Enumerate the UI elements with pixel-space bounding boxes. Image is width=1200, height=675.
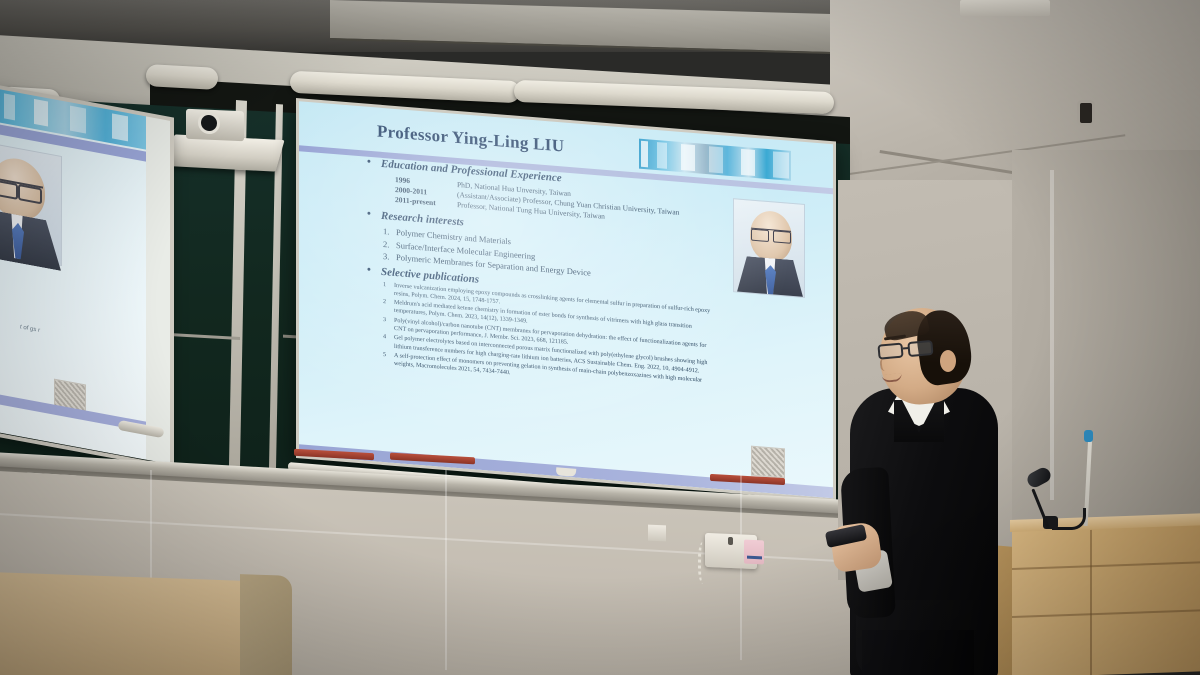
- presentation-slide: Professor Ying-Ling LIU Education and Pr…: [299, 101, 833, 498]
- screen-pull-handle: [556, 467, 577, 477]
- secondary-slide-text: t of gs r: [0, 315, 40, 337]
- wall-control-panel[interactable]: [744, 540, 764, 565]
- screen-roller-housing: [145, 64, 218, 90]
- foreground-table-edge: [240, 574, 292, 675]
- glasses-lens-right: [907, 340, 933, 357]
- publication-number: 1: [383, 280, 394, 297]
- wall-control-indicator: [747, 556, 762, 560]
- slide-thumbnail-image: [751, 446, 785, 479]
- portrait-photo: [733, 198, 805, 298]
- slide-title: Professor Ying-Ling LIU: [377, 122, 564, 157]
- wall-seam: [445, 470, 447, 670]
- publication-number: 2: [383, 298, 394, 315]
- research-item-number: 2.: [383, 237, 396, 251]
- presenter: [840, 300, 1060, 675]
- publication-number: 3: [383, 316, 394, 333]
- research-item-number: 1.: [383, 225, 396, 239]
- pointer-tip-icon: [1084, 430, 1093, 442]
- secondary-projection-screen: t of gs r: [0, 86, 170, 464]
- wall-outlet-plate: [648, 525, 666, 542]
- publication-number: 5: [383, 351, 394, 368]
- ceiling-fixture-icon: [1080, 103, 1092, 123]
- projector-lens-icon: [198, 112, 220, 135]
- presenter-nose: [879, 357, 892, 371]
- secondary-slide-surface: t of gs r: [0, 86, 146, 460]
- main-projection-screen: Professor Ying-Ling LIU Education and Pr…: [296, 98, 836, 501]
- research-item-number: 3.: [383, 250, 396, 264]
- phone-handset-icon: [728, 537, 733, 545]
- ceiling-vent: [960, 0, 1050, 16]
- publication-number: 4: [383, 333, 394, 350]
- podium-seam: [1090, 530, 1092, 675]
- presenter-legs: [862, 630, 974, 675]
- presenter-ear: [940, 350, 956, 372]
- glasses-icon: [751, 228, 791, 242]
- portrait-photo: [0, 139, 62, 266]
- lecture-hall-photo: t of gs r Professor Ying-Ling LIU Educat…: [0, 0, 1200, 675]
